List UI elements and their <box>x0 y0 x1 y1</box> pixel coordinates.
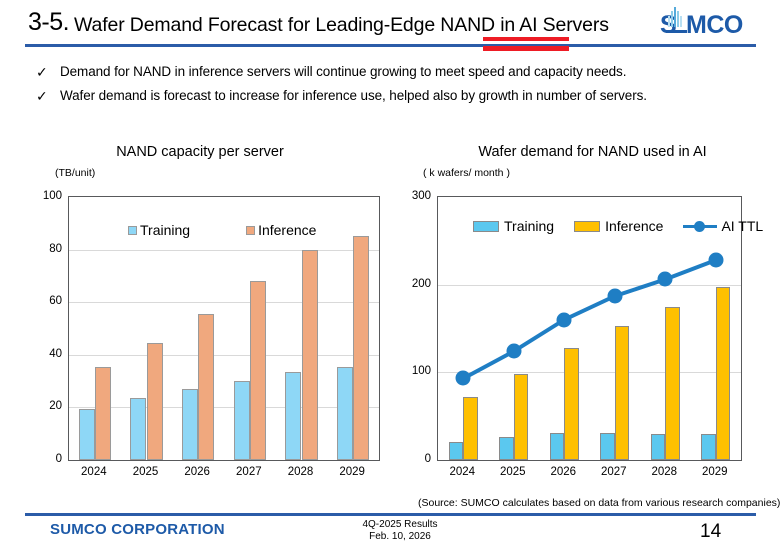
logo-underbar <box>666 30 687 33</box>
chart-nand-capacity-per-server: NAND capacity per server (TB/unit) 02040… <box>10 140 390 500</box>
data-point-ai-ttl-2027 <box>607 289 622 304</box>
bar-training-2024 <box>79 409 95 460</box>
legend-item-inference: Inference <box>574 218 663 234</box>
logo-letters-mco: MCO <box>686 10 743 40</box>
check-icon: ✓ <box>36 62 60 82</box>
gridline <box>69 250 379 251</box>
x-axis-tick-label: 2027 <box>589 466 640 478</box>
bar-training-2028 <box>285 372 301 460</box>
legend-label: Inference <box>258 222 316 238</box>
check-icon: ✓ <box>36 86 60 106</box>
bar-inference-2027 <box>250 281 266 460</box>
section-number: 3-5. <box>28 8 69 37</box>
footer-date: Feb. 10, 2026 <box>330 531 470 543</box>
bullet-list: ✓ Demand for NAND in inference servers w… <box>36 62 756 110</box>
legend-label: Training <box>140 222 190 238</box>
logo-wafer-bars-icon <box>668 7 685 27</box>
bullet-item: ✓ Wafer demand is forecast to increase f… <box>36 86 756 106</box>
chart-title: NAND capacity per server <box>30 144 370 163</box>
line-series-ai-ttl <box>438 197 741 460</box>
x-axis-tick-label: 2026 <box>538 466 589 478</box>
gridline <box>69 355 379 356</box>
chart-legend: Training Inference <box>128 222 336 238</box>
bullet-item: ✓ Demand for NAND in inference servers w… <box>36 62 756 82</box>
x-axis-tick-label: 2025 <box>488 466 539 478</box>
legend-label: AI TTL <box>721 218 763 234</box>
y-axis-tick-label: 20 <box>49 400 62 412</box>
slide: 3-5. Wafer Demand Forecast for Leading-E… <box>0 0 781 557</box>
bar-training-2027 <box>234 381 250 460</box>
bar-training-2026 <box>182 389 198 460</box>
x-axis-tick-label: 2025 <box>120 466 172 478</box>
bar-inference-2025 <box>147 343 163 460</box>
legend-label: Inference <box>605 218 663 234</box>
y-axis-tick-label: 0 <box>425 453 431 465</box>
legend-swatch <box>246 226 255 235</box>
x-axis-tick-label: 2029 <box>690 466 741 478</box>
y-axis-tick-label: 200 <box>412 278 431 290</box>
x-axis-tick-label: 2028 <box>639 466 690 478</box>
y-axis-tick-label: 300 <box>412 190 431 202</box>
source-note: (Source: SUMCO calculates based on data … <box>418 497 780 509</box>
legend-swatch <box>473 221 499 232</box>
footer-meta: 4Q-2025 Results Feb. 10, 2026 <box>330 519 470 543</box>
chart-legend: Training Inference AI TTL <box>473 218 763 234</box>
y-axis-unit-label: ( k wafers/ month ) <box>423 167 510 179</box>
data-point-ai-ttl-2024 <box>456 371 471 386</box>
x-axis-tick-label: 2027 <box>223 466 275 478</box>
bar-training-2029 <box>337 367 353 460</box>
page-title: Wafer Demand Forecast for Leading-Edge N… <box>74 14 609 37</box>
title-red-underline-secondary <box>483 46 569 51</box>
legend-swatch <box>574 221 600 232</box>
title-divider <box>25 44 756 47</box>
bar-inference-2028 <box>302 250 318 460</box>
bar-training-2025 <box>130 398 146 460</box>
x-axis-tick-label: 2024 <box>68 466 120 478</box>
bar-inference-2024 <box>95 367 111 460</box>
bullet-text: Demand for NAND in inference servers wil… <box>60 62 626 82</box>
legend-swatch <box>128 226 137 235</box>
y-axis-tick-label: 40 <box>49 348 62 360</box>
y-axis-tick-label: 60 <box>49 295 62 307</box>
footer-results-label: 4Q-2025 Results <box>330 519 470 531</box>
y-axis-tick-label: 0 <box>56 453 62 465</box>
x-axis-tick-label: 2026 <box>171 466 223 478</box>
legend-item-ai-ttl: AI TTL <box>683 218 763 234</box>
y-axis-tick-label: 100 <box>412 365 431 377</box>
y-axis-unit-label: (TB/unit) <box>55 167 95 179</box>
page-number: 14 <box>700 521 721 543</box>
gridline <box>69 302 379 303</box>
y-axis-tick-label: 100 <box>43 190 62 202</box>
y-axis-tick-label: 80 <box>49 243 62 255</box>
footer-divider <box>25 513 756 516</box>
legend-item-training: Training <box>128 222 190 238</box>
legend-line-marker-icon <box>683 219 717 233</box>
data-point-ai-ttl-2026 <box>557 312 572 327</box>
data-point-ai-ttl-2029 <box>708 253 723 268</box>
gridline <box>69 407 379 408</box>
bar-inference-2029 <box>353 236 369 460</box>
legend-item-inference: Inference <box>246 222 316 238</box>
legend-label: Training <box>504 218 554 234</box>
title-red-underline <box>483 37 569 41</box>
chart-wafer-demand-nand-ai: Wafer demand for NAND used in AI ( k waf… <box>405 140 780 500</box>
legend-item-training: Training <box>473 218 554 234</box>
plot-area <box>437 196 742 461</box>
x-axis-tick-label: 2029 <box>326 466 378 478</box>
bullet-text: Wafer demand is forecast to increase for… <box>60 86 647 106</box>
data-point-ai-ttl-2025 <box>506 344 521 359</box>
chart-title: Wafer demand for NAND used in AI <box>425 144 760 163</box>
data-point-ai-ttl-2028 <box>658 272 673 287</box>
x-axis-tick-label: 2028 <box>275 466 327 478</box>
bar-inference-2026 <box>198 314 214 460</box>
x-axis-tick-label: 2024 <box>437 466 488 478</box>
footer-company-name: SUMCO CORPORATION <box>50 521 225 538</box>
